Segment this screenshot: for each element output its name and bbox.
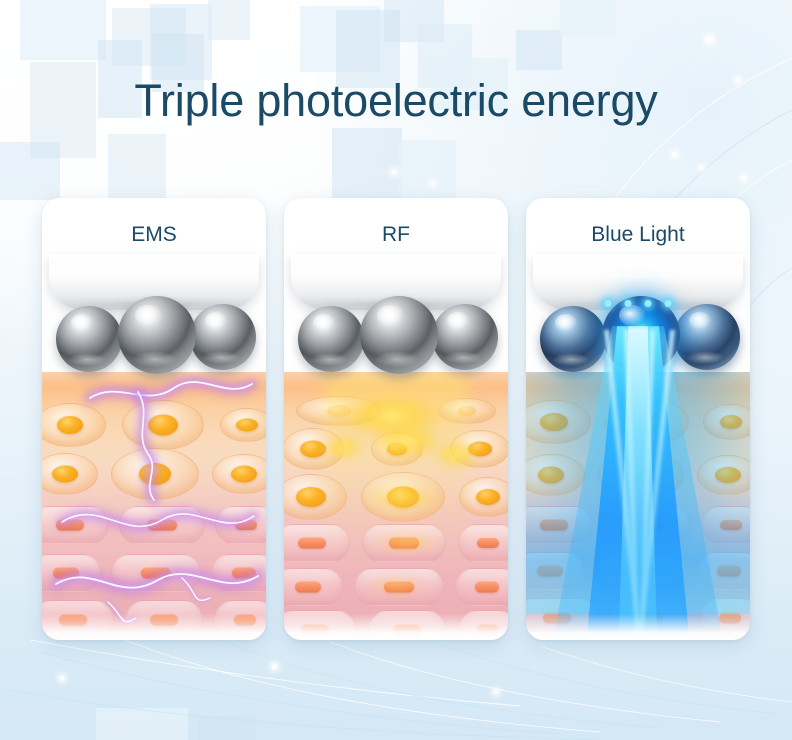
skin-cell — [605, 398, 689, 446]
cell-nucleus — [717, 566, 741, 577]
sparkle-dot — [706, 36, 713, 43]
skin-cell — [296, 396, 382, 426]
card-bottom-fade — [284, 614, 508, 640]
cell-row — [526, 450, 750, 500]
skin-cell — [697, 552, 750, 590]
led-indicator-icon — [665, 300, 672, 307]
led-array — [605, 300, 672, 307]
skin-cell — [526, 506, 593, 544]
led-indicator-icon — [645, 300, 652, 307]
card-rf-label: RF — [284, 198, 508, 272]
cell-nucleus — [236, 419, 258, 432]
skin-cell — [703, 404, 750, 440]
skin-cell — [122, 400, 204, 450]
skin-cell — [701, 506, 750, 544]
skin-cell — [354, 568, 444, 606]
skin-cell — [215, 506, 266, 544]
rf-skin-cross-section — [284, 372, 508, 640]
page-title: Triple photoelectric energy — [0, 78, 792, 123]
blue-light-skin-cross-section — [526, 372, 750, 640]
chrome-sphere-icon — [118, 296, 196, 374]
rf-spheres — [284, 290, 508, 376]
cell-nucleus — [56, 520, 84, 531]
chrome-sphere-icon — [190, 304, 256, 370]
chrome-sphere-icon — [360, 296, 438, 374]
ems-skin-cross-section — [42, 372, 266, 640]
cell-nucleus — [148, 415, 178, 436]
cell-nucleus — [540, 413, 568, 431]
rf-applicator-zone — [284, 272, 508, 372]
cell-nucleus — [300, 441, 326, 458]
cell-nucleus — [139, 463, 171, 485]
cell-nucleus — [147, 520, 177, 531]
cell-nucleus — [387, 443, 407, 456]
skin-cell — [284, 524, 350, 562]
skin-cell — [438, 398, 496, 424]
skin-cell — [220, 408, 266, 442]
blue-sphere-icon — [540, 306, 606, 372]
skin-cell — [526, 552, 585, 590]
sparkle-dot — [700, 166, 703, 169]
chrome-sphere-icon — [432, 304, 498, 370]
cell-nucleus — [540, 520, 568, 531]
ems-applicator-zone — [42, 272, 266, 372]
cell-row — [284, 428, 508, 470]
skin-cell — [111, 448, 199, 500]
cell-nucleus — [141, 568, 171, 579]
cell-row — [284, 472, 508, 522]
card-blue-light[interactable]: Blue Light — [526, 198, 750, 640]
cell-nucleus — [296, 487, 326, 507]
cell-row — [42, 554, 266, 592]
skin-cell — [111, 554, 201, 592]
skin-cell — [211, 554, 266, 592]
led-indicator-icon — [625, 300, 632, 307]
led-indicator-icon — [605, 300, 612, 307]
sparkle-dot — [672, 152, 677, 157]
cell-row — [526, 506, 750, 544]
cell-nucleus — [720, 520, 742, 530]
skin-cell — [697, 455, 750, 495]
chrome-sphere-icon — [56, 306, 122, 372]
cell-row — [284, 568, 508, 606]
skin-cell — [42, 554, 101, 592]
card-ems-label: EMS — [42, 198, 266, 272]
chrome-sphere-icon — [298, 306, 364, 372]
cell-row — [42, 448, 266, 500]
cell-nucleus — [231, 466, 257, 483]
blue-light-applicator-zone — [526, 272, 750, 372]
skin-cell — [596, 552, 686, 590]
cell-nucleus — [389, 538, 419, 549]
sparkle-dot — [60, 676, 64, 680]
skin-cell — [598, 450, 684, 500]
skin-cell — [362, 524, 446, 562]
skin-cell — [371, 432, 423, 466]
skin-cell — [42, 506, 109, 544]
cell-nucleus — [626, 566, 656, 577]
sparkle-dot — [272, 664, 277, 669]
cell-nucleus — [475, 582, 499, 593]
cell-nucleus — [715, 467, 741, 483]
skin-cell — [458, 524, 508, 562]
treatment-cards-row: EMS — [42, 198, 750, 640]
card-bottom-fade — [42, 614, 266, 640]
cell-row — [42, 506, 266, 544]
card-ems[interactable]: EMS — [42, 198, 266, 640]
skin-cell — [284, 428, 344, 470]
cell-row — [526, 552, 750, 590]
skin-cell — [459, 477, 508, 517]
cell-nucleus — [384, 582, 414, 593]
skin-cell — [42, 453, 98, 495]
card-bottom-fade — [526, 614, 750, 640]
cell-nucleus — [625, 465, 657, 486]
cell-nucleus — [53, 568, 79, 579]
cell-row — [284, 524, 508, 562]
skin-cell — [119, 506, 205, 544]
cell-nucleus — [295, 582, 321, 593]
cell-nucleus — [387, 487, 419, 508]
skin-cell — [284, 474, 347, 520]
cell-nucleus — [52, 466, 78, 483]
cell-nucleus — [298, 538, 326, 549]
cell-nucleus — [632, 520, 662, 531]
skin-cell — [455, 568, 508, 606]
cell-row — [284, 396, 508, 426]
cell-nucleus — [538, 467, 564, 484]
cell-nucleus — [632, 412, 662, 432]
cell-nucleus — [720, 415, 742, 429]
skin-cell — [604, 506, 690, 544]
ems-spheres — [42, 290, 266, 376]
skin-cell — [212, 454, 266, 494]
cell-nucleus — [537, 566, 563, 577]
cell-nucleus — [476, 489, 500, 505]
skin-cell — [526, 454, 585, 496]
cell-nucleus — [57, 416, 83, 434]
card-blue-light-label: Blue Light — [526, 198, 750, 272]
cell-nucleus — [477, 538, 499, 548]
blue-sphere-icon — [674, 304, 740, 370]
cell-row — [526, 398, 750, 446]
skin-cell — [361, 472, 445, 522]
cell-nucleus — [458, 406, 476, 416]
sparkle-dot — [432, 182, 435, 185]
cell-nucleus — [232, 568, 256, 579]
cell-nucleus — [327, 405, 351, 417]
skin-cell — [284, 568, 343, 606]
cell-nucleus — [235, 520, 257, 530]
blue-sphere-icon — [602, 296, 680, 374]
cell-row — [42, 400, 266, 450]
skin-cell — [526, 400, 591, 444]
sparkle-dot — [742, 176, 746, 180]
card-rf[interactable]: RF — [284, 198, 508, 640]
cell-nucleus — [468, 442, 492, 457]
skin-cell — [42, 403, 106, 447]
sparkle-dot — [392, 170, 396, 174]
sparkle-dot — [494, 690, 498, 694]
blue-light-spheres — [526, 290, 750, 376]
skin-cell — [450, 430, 508, 468]
